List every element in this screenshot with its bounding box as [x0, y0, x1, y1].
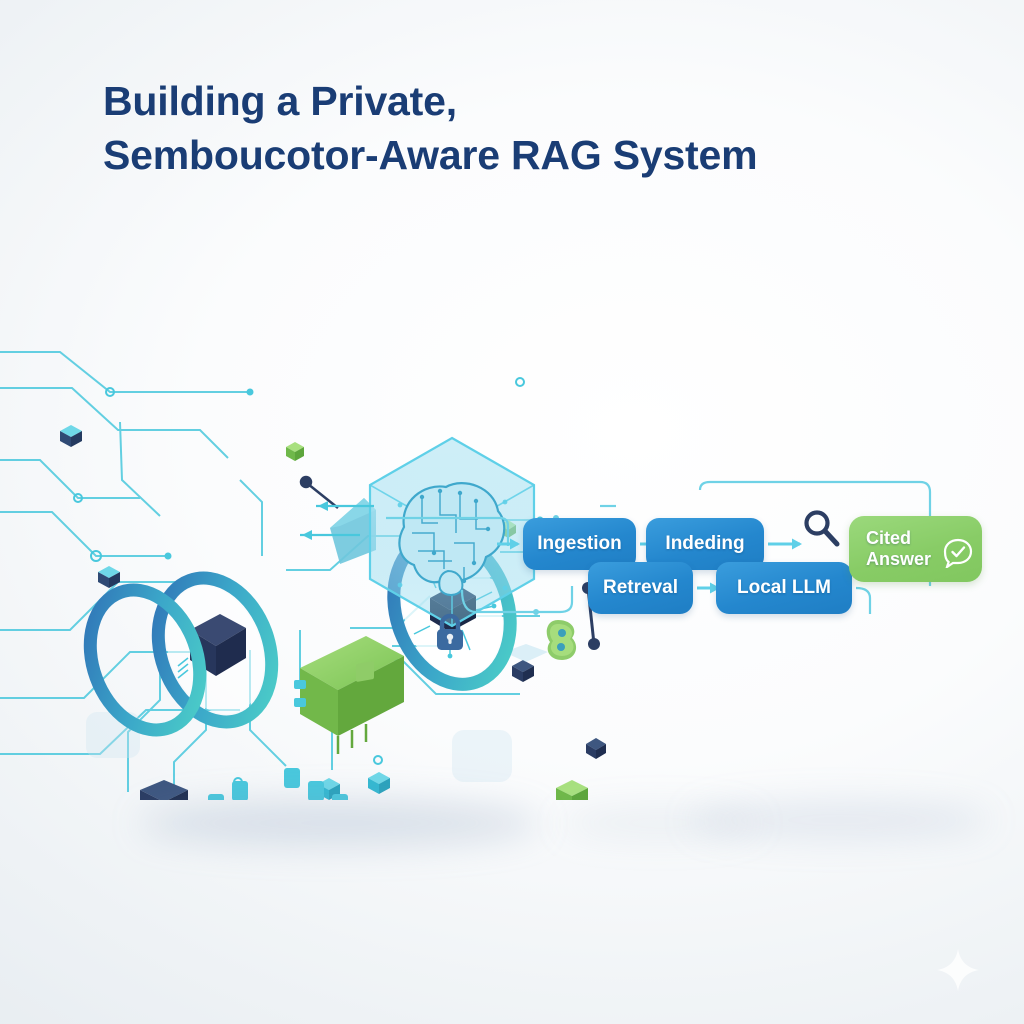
flow-node-cited-answer[interactable]: Cited Answer: [849, 516, 982, 582]
pipeline-flow: Ingestion Indeding Retreval Local LLM Ci…: [0, 330, 1024, 800]
illustration-stage: Ingestion Indeding Retreval Local LLM Ci…: [0, 330, 1024, 800]
cited-answer-text: Cited Answer: [866, 528, 931, 570]
flow-node-local-llm[interactable]: Local LLM: [716, 562, 852, 614]
ground-shadow-left: [140, 800, 540, 846]
padlock-icon: [434, 612, 466, 652]
poster-canvas: Building a Private, Semboucotor-Aware RA…: [0, 0, 1024, 1024]
cited-answer-line-1: Cited: [866, 528, 931, 549]
page-title-line-1: Building a Private,: [103, 78, 457, 124]
magnifier-icon: [800, 508, 842, 550]
cited-answer-line-2: Answer: [866, 549, 931, 570]
page-title-line-2: Semboucotor-Aware RAG System: [103, 128, 923, 182]
ground-shadow-right: [690, 802, 990, 838]
check-bubble-icon: [943, 538, 973, 568]
page-title: Building a Private, Semboucotor-Aware RA…: [103, 74, 923, 182]
flow-node-retrieval[interactable]: Retreval: [588, 562, 693, 614]
sparkle-icon: [936, 948, 980, 992]
